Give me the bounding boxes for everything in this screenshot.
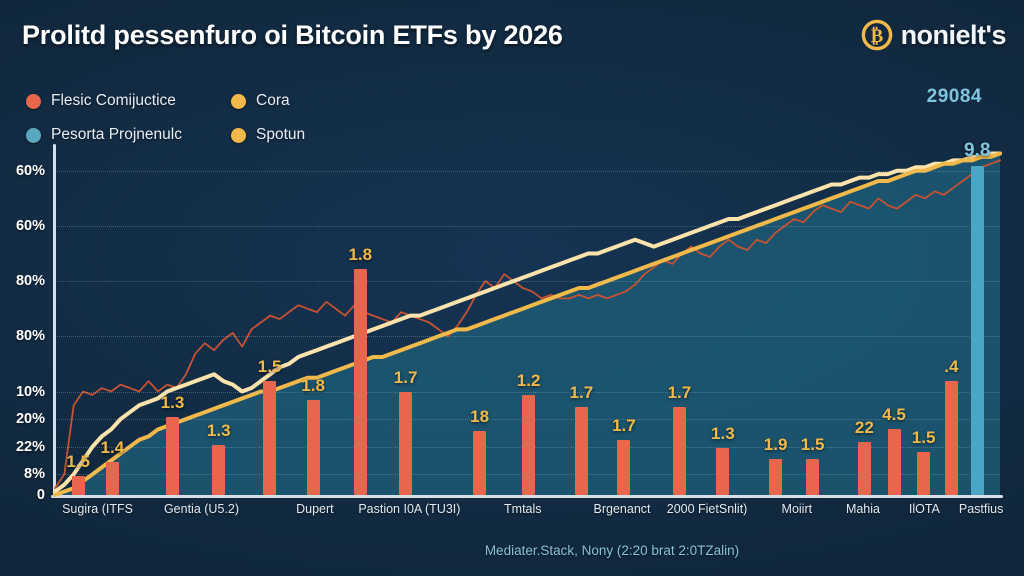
gridline — [55, 171, 1000, 172]
bar[interactable] — [575, 407, 588, 495]
x-axis-category-label: Mahia — [846, 502, 880, 516]
bar-value-label: 1.3 — [711, 424, 735, 444]
plot-area: 60%60%80%80%10%20%22%8%01.51.41.31.31.51… — [55, 150, 1000, 495]
bar-value-label: 1.7 — [612, 416, 636, 436]
x-axis-category-label: Pastion I0A (TU3I) — [358, 502, 460, 516]
bar-value-label: 1.9 — [764, 435, 788, 455]
gridline — [55, 226, 1000, 227]
bar[interactable] — [971, 166, 984, 495]
x-axis-category-label: Brgenanct — [594, 502, 651, 516]
y-axis-tick-label: 20% — [16, 411, 55, 427]
bar-value-label: 1.5 — [258, 357, 282, 377]
legend-label: Spotun — [256, 126, 305, 144]
legend-item-3[interactable]: Spotun — [231, 126, 305, 144]
legend-item-1[interactable]: Cora — [231, 92, 305, 110]
bar-value-label: 1.4 — [101, 438, 125, 458]
gridline — [55, 336, 1000, 337]
y-axis-tick-label: 22% — [16, 439, 55, 455]
bitcoin-coin-icon: ₿ — [860, 18, 894, 52]
bar[interactable] — [72, 476, 85, 495]
bar[interactable] — [673, 407, 686, 495]
x-axis-category-label: 2000 FietSnlit) — [667, 502, 748, 516]
bar-value-label: 1.7 — [394, 368, 418, 388]
brand-name: nonielt's — [901, 20, 1006, 51]
brand-logo: ₿ nonielt's — [860, 18, 1006, 52]
bar[interactable] — [888, 429, 901, 495]
bar[interactable] — [716, 448, 729, 495]
gridline — [55, 281, 1000, 282]
chart-canvas: Prolitd pessenfuro oi Bitcoin ETFs by 20… — [0, 0, 1024, 576]
bar[interactable] — [263, 381, 276, 495]
bar-value-label: 1.5 — [66, 452, 90, 472]
legend-item-2[interactable]: Pesorta Projnenulc — [26, 126, 231, 144]
bar[interactable] — [945, 381, 958, 495]
footer-caption: Mediater.Stack, Nony (2:20 brat 2:0TZali… — [0, 543, 1024, 558]
bar-value-label: 1.3 — [161, 393, 185, 413]
brand-code: 29084 — [927, 86, 982, 108]
x-axis-category-label: Dupert — [296, 502, 334, 516]
bar-value-label: 1.2 — [517, 371, 541, 391]
legend-dot-icon — [26, 128, 41, 143]
legend-label: Flesic Comijuctice — [51, 92, 176, 110]
legend-label: Cora — [256, 92, 290, 110]
bar-value-label: 1.8 — [301, 376, 325, 396]
bar[interactable] — [307, 400, 320, 495]
bar-value-label: 1.8 — [348, 245, 372, 265]
bar[interactable] — [212, 445, 225, 495]
legend-label: Pesorta Projnenulc — [51, 126, 182, 144]
bar-value-label: 18 — [470, 407, 489, 427]
y-axis-tick-label: 80% — [16, 328, 55, 344]
page-title: Prolitd pessenfuro oi Bitcoin ETFs by 20… — [22, 20, 563, 51]
bar-value-label: 9.8 — [964, 140, 990, 162]
svg-text:₿: ₿ — [870, 26, 882, 47]
x-axis-category-label: Gentia (U5.2) — [164, 502, 239, 516]
x-axis-category-label: Sugira (ITFS — [62, 502, 133, 516]
legend-dot-icon — [26, 94, 41, 109]
bar[interactable] — [769, 459, 782, 495]
bar-value-label: 4.5 — [882, 405, 906, 425]
bar[interactable] — [473, 431, 486, 495]
legend-dot-icon — [231, 94, 246, 109]
y-axis-tick-label: 80% — [16, 273, 55, 289]
x-axis — [51, 495, 1003, 498]
legend-dot-icon — [231, 128, 246, 143]
bar[interactable] — [522, 395, 535, 495]
bar-value-label: 22 — [855, 418, 874, 438]
x-axis-category-label: Pastfius — [959, 502, 1003, 516]
bar-value-label: 1.5 — [912, 428, 936, 448]
bar-value-label: 1.7 — [668, 383, 692, 403]
chart-legend: Flesic ComijucticeCoraPesorta Projnenulc… — [26, 84, 305, 152]
x-axis-category-label: IlOTA — [909, 502, 940, 516]
x-axis-category-label: Moiirt — [782, 502, 813, 516]
y-axis-tick-label: 60% — [16, 163, 55, 179]
y-axis-tick-label: 60% — [16, 218, 55, 234]
bar[interactable] — [917, 452, 930, 495]
bar[interactable] — [166, 417, 179, 495]
bar-value-label: .4 — [944, 357, 958, 377]
bar[interactable] — [858, 442, 871, 495]
bar-value-label: 1.7 — [570, 383, 594, 403]
y-axis-tick-label: 8% — [24, 466, 55, 482]
bar-value-label: 1.5 — [801, 435, 825, 455]
bar[interactable] — [617, 440, 630, 495]
bar[interactable] — [806, 459, 819, 495]
legend-item-0[interactable]: Flesic Comijuctice — [26, 92, 231, 110]
bar-value-label: 1.3 — [207, 421, 231, 441]
bar[interactable] — [106, 462, 119, 495]
gridline — [55, 392, 1000, 393]
y-axis-tick-label: 0 — [37, 487, 55, 503]
y-axis-tick-label: 10% — [16, 384, 55, 400]
x-axis-category-label: Tmtals — [504, 502, 542, 516]
bar[interactable] — [399, 392, 412, 496]
bar[interactable] — [354, 269, 367, 495]
